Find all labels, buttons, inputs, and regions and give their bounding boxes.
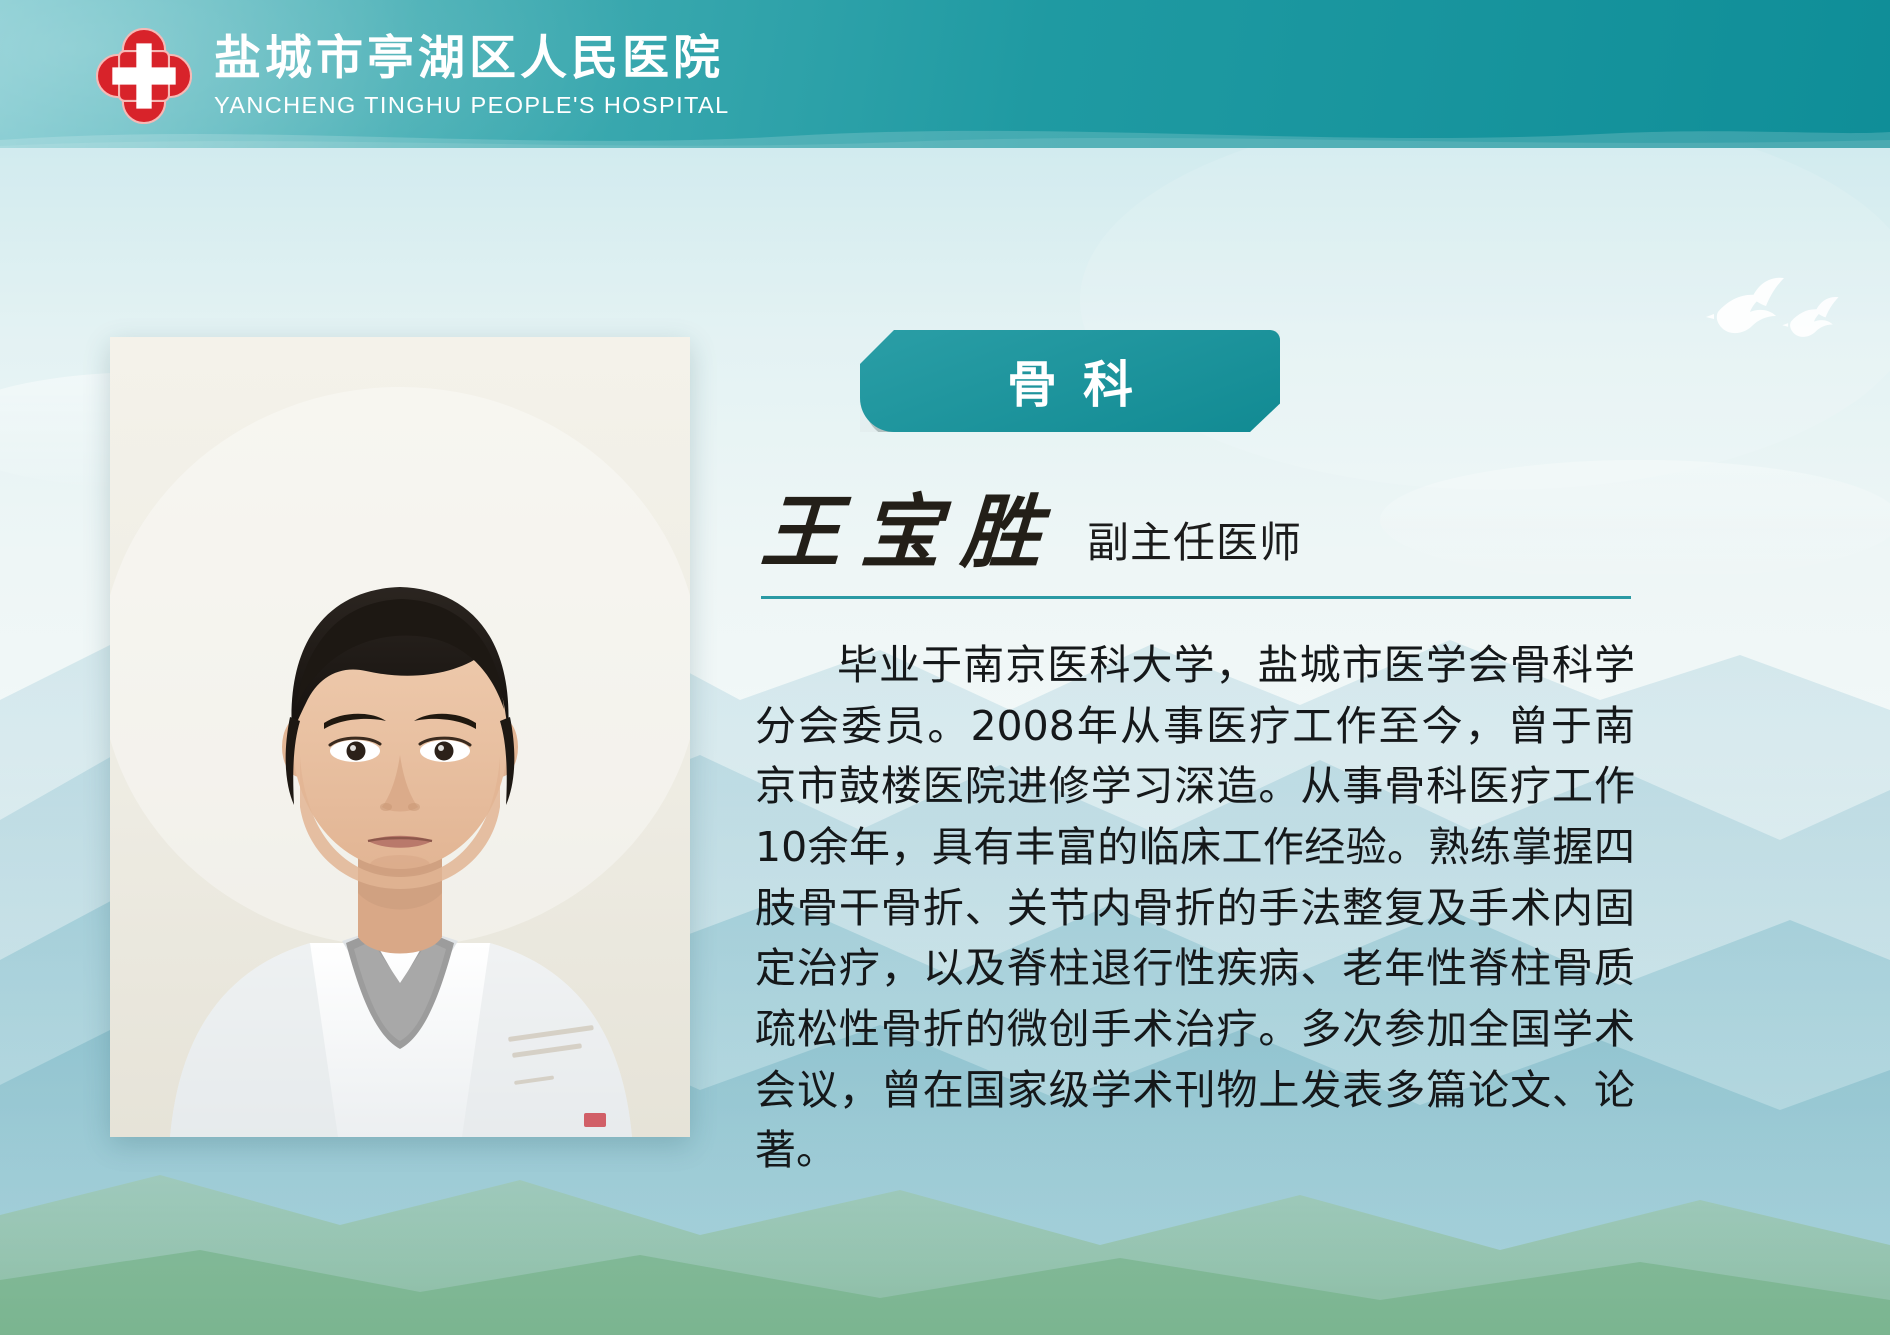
red-medical-cross-logo-icon bbox=[96, 28, 192, 124]
doctor-profile-poster: 盐城市亭湖区人民医院 YANCHENG TINGHU PEOPLE'S HOSP… bbox=[0, 0, 1890, 1335]
doctor-name: 王宝胜 bbox=[759, 492, 1063, 572]
doctor-name-row: 王宝胜 副主任医师 bbox=[745, 492, 1805, 572]
doctor-info-column: 骨科 王宝胜 副主任医师 毕业于南京医科大学，盐城市医学会骨科学分会委员。200… bbox=[745, 330, 1805, 1222]
page-header: 盐城市亭湖区人民医院 YANCHENG TINGHU PEOPLE'S HOSP… bbox=[0, 0, 1890, 148]
doctor-photo bbox=[110, 337, 690, 1137]
name-divider bbox=[761, 596, 1631, 599]
hospital-name-cn: 盐城市亭湖区人民医院 bbox=[214, 34, 730, 85]
hospital-name-en: YANCHENG TINGHU PEOPLE'S HOSPITAL bbox=[214, 91, 730, 120]
doctor-bio: 毕业于南京医科大学，盐城市医学会骨科学分会委员。2008年从事医疗工作至今，曾于… bbox=[755, 635, 1635, 1181]
department-name: 骨科 bbox=[981, 345, 1159, 417]
header-wave-decor bbox=[0, 118, 1890, 148]
doctor-title: 副主任医师 bbox=[1087, 522, 1302, 572]
doctor-portrait-illustration bbox=[110, 337, 690, 1137]
hospital-logo-block: 盐城市亭湖区人民医院 YANCHENG TINGHU PEOPLE'S HOSP… bbox=[96, 28, 730, 124]
hospital-name-wrap: 盐城市亭湖区人民医院 YANCHENG TINGHU PEOPLE'S HOSP… bbox=[214, 32, 730, 120]
department-badge: 骨科 bbox=[860, 330, 1280, 432]
